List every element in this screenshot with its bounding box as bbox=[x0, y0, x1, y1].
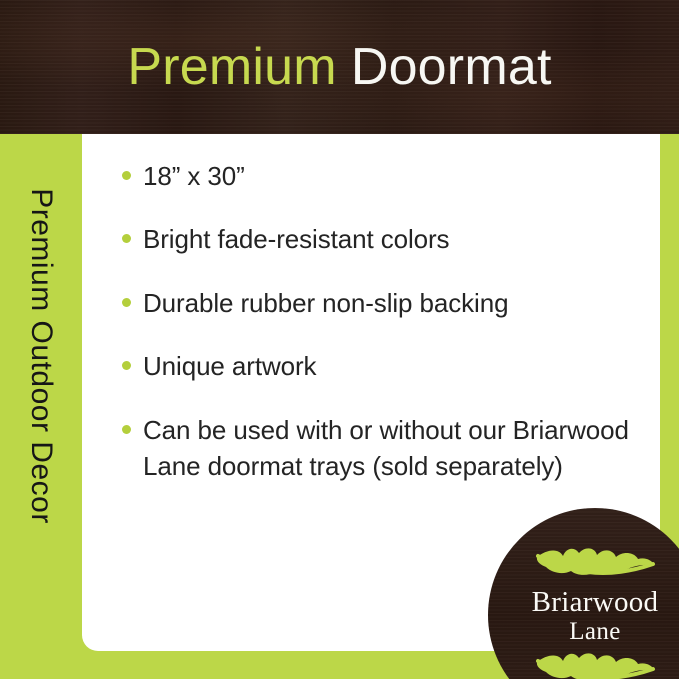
list-item-label: 18” x 30” bbox=[143, 158, 245, 194]
list-item-label: Durable rubber non-slip backing bbox=[143, 285, 508, 321]
page-title: Premium Doormat bbox=[0, 0, 679, 134]
bullet-dot-icon bbox=[122, 361, 131, 370]
briarwood-lane-logo: Briarwood Lane bbox=[488, 508, 679, 679]
bullet-dot-icon bbox=[122, 298, 131, 307]
list-item: 18” x 30” bbox=[122, 158, 632, 194]
page-title-rest: Doormat bbox=[351, 37, 552, 97]
list-item-label: Can be used with or without our Briarwoo… bbox=[143, 412, 632, 485]
bullet-dot-icon bbox=[122, 425, 131, 434]
product-infographic: Premium Doormat Premium Outdoor Decor 18… bbox=[0, 0, 679, 679]
leaf-icon bbox=[533, 544, 657, 585]
logo-content: Briarwood Lane bbox=[488, 508, 679, 679]
sidebar-vertical-label: Premium Outdoor Decor bbox=[0, 134, 82, 651]
feature-list: 18” x 30” Bright fade-resistant colors D… bbox=[122, 158, 632, 511]
logo-brand-line2: Lane bbox=[569, 618, 621, 646]
bullet-dot-icon bbox=[122, 171, 131, 180]
logo-brand-line1: Briarwood bbox=[532, 587, 659, 617]
list-item: Bright fade-resistant colors bbox=[122, 221, 632, 257]
leaf-icon bbox=[533, 649, 657, 679]
list-item: Can be used with or without our Briarwoo… bbox=[122, 412, 632, 485]
sidebar-vertical-label-text: Premium Outdoor Decor bbox=[24, 188, 58, 524]
page-title-highlight: Premium bbox=[127, 37, 336, 97]
list-item: Durable rubber non-slip backing bbox=[122, 285, 632, 321]
bullet-dot-icon bbox=[122, 234, 131, 243]
list-item-label: Bright fade-resistant colors bbox=[143, 221, 449, 257]
list-item: Unique artwork bbox=[122, 348, 632, 384]
list-item-label: Unique artwork bbox=[143, 348, 316, 384]
